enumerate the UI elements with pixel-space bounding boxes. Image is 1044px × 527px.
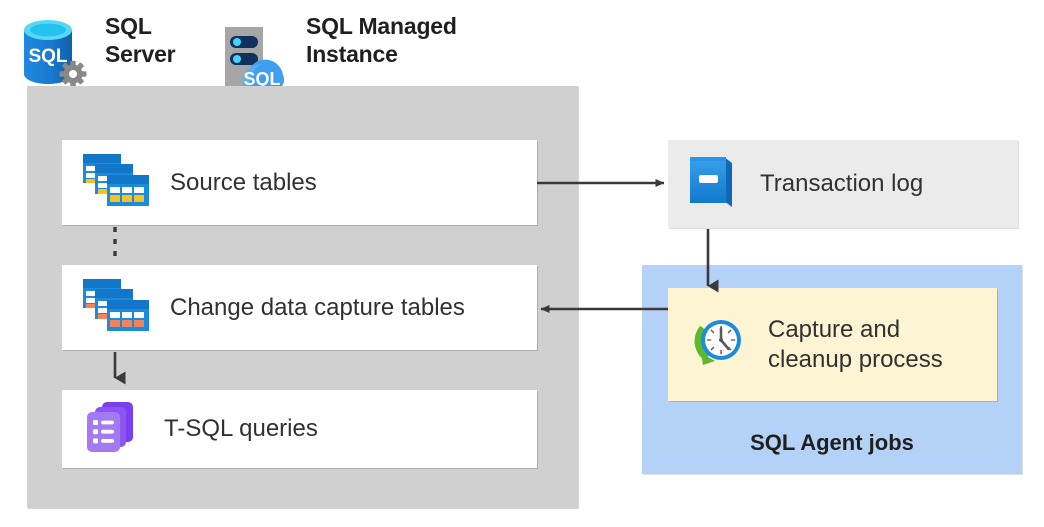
box-tsql-queries-label: T-SQL queries xyxy=(164,415,318,443)
box-transaction-log[interactable]: Transaction log xyxy=(668,140,1018,228)
legend-sql-server: SQL SQL Server xyxy=(16,12,175,95)
legend-sql-server-label: SQL Server xyxy=(105,12,175,68)
panel-sql-agent-jobs-title: SQL Agent jobs xyxy=(642,430,1022,456)
stacked-tables-icon xyxy=(82,278,150,337)
panel-sql-agent-jobs: Capture and cleanup process SQL Agent jo… xyxy=(642,265,1022,474)
log-book-icon xyxy=(686,153,738,216)
diagram-canvas: SQL SQL Server xyxy=(0,0,1044,527)
legend-sql-managed-instance: SQL SQL Managed Instance xyxy=(218,12,457,95)
svg-text:SQL: SQL xyxy=(28,46,67,67)
stacked-tables-icon xyxy=(82,153,150,212)
query-list-icon xyxy=(82,400,144,459)
box-change-data-capture-tables-label: Change data capture tables xyxy=(170,294,465,322)
box-change-data-capture-tables[interactable]: Change data capture tables xyxy=(62,265,537,350)
box-capture-and-cleanup-process[interactable]: Capture and cleanup process xyxy=(668,288,997,401)
box-transaction-log-label: Transaction log xyxy=(760,170,923,198)
sql-server-database-icon: SQL xyxy=(16,12,88,95)
box-tsql-queries[interactable]: T-SQL queries xyxy=(62,390,537,468)
sql-managed-instance-icon: SQL xyxy=(218,12,290,95)
legend-sql-managed-instance-label: SQL Managed Instance xyxy=(306,12,457,68)
box-source-tables-label: Source tables xyxy=(170,169,317,197)
box-capture-and-cleanup-process-label: Capture and cleanup process xyxy=(768,315,943,375)
clock-refresh-icon xyxy=(690,313,748,376)
box-source-tables[interactable]: Source tables xyxy=(62,140,537,225)
